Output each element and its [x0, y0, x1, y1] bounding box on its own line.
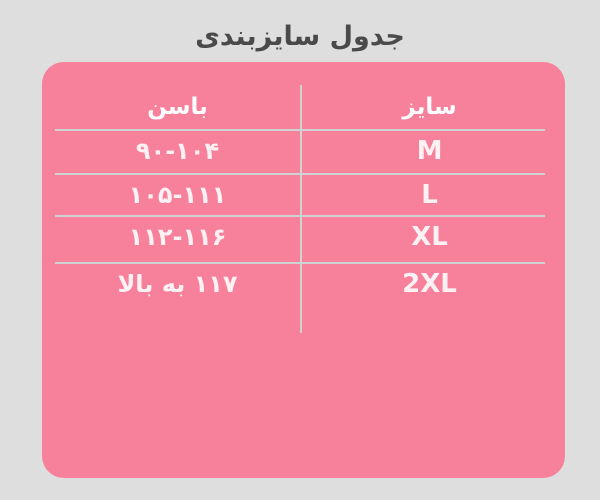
- table-row: XL ۱۱۲-۱۱۶: [42, 215, 565, 258]
- cell-size: L: [307, 173, 552, 216]
- size-chart-card: سایز باسن M ۹۰-۱۰۴ L ۱۰۵-۱۱۱ XL: [42, 62, 565, 478]
- table-row: M ۹۰-۱۰۴: [42, 129, 565, 172]
- cell-hip-value: ۱۰۵-۱۱۱: [129, 181, 227, 209]
- column-header-size: سایز: [307, 85, 552, 129]
- cell-size: M: [307, 129, 552, 172]
- cell-size: XL: [307, 215, 552, 258]
- column-header-size-label: سایز: [402, 94, 456, 120]
- cell-hip: ۱۱۷ به بالا: [55, 262, 300, 305]
- table-row: L ۱۰۵-۱۱۱: [42, 173, 565, 216]
- cell-size-value: 2XL: [402, 269, 457, 299]
- column-header-hip-label: باسن: [147, 94, 208, 120]
- cell-hip-value: ۹۰-۱۰۴: [136, 137, 219, 165]
- size-table: سایز باسن M ۹۰-۱۰۴ L ۱۰۵-۱۱۱ XL: [42, 62, 565, 292]
- cell-hip: ۱۰۵-۱۱۱: [55, 173, 300, 216]
- table-header-row: سایز باسن: [42, 85, 565, 129]
- cell-size-value: M: [417, 136, 443, 166]
- cell-size-value: L: [421, 180, 438, 210]
- column-header-hip: باسن: [55, 85, 300, 129]
- cell-size-value: XL: [411, 222, 448, 252]
- cell-hip: ۱۱۲-۱۱۶: [55, 215, 300, 258]
- cell-hip: ۹۰-۱۰۴: [55, 129, 300, 172]
- cell-hip-value: ۱۱۷ به بالا: [117, 270, 237, 298]
- table-row: 2XL ۱۱۷ به بالا: [42, 262, 565, 305]
- cell-size: 2XL: [307, 262, 552, 305]
- page-title: جدول سایزبندی: [0, 20, 600, 54]
- cell-hip-value: ۱۱۲-۱۱۶: [129, 223, 227, 251]
